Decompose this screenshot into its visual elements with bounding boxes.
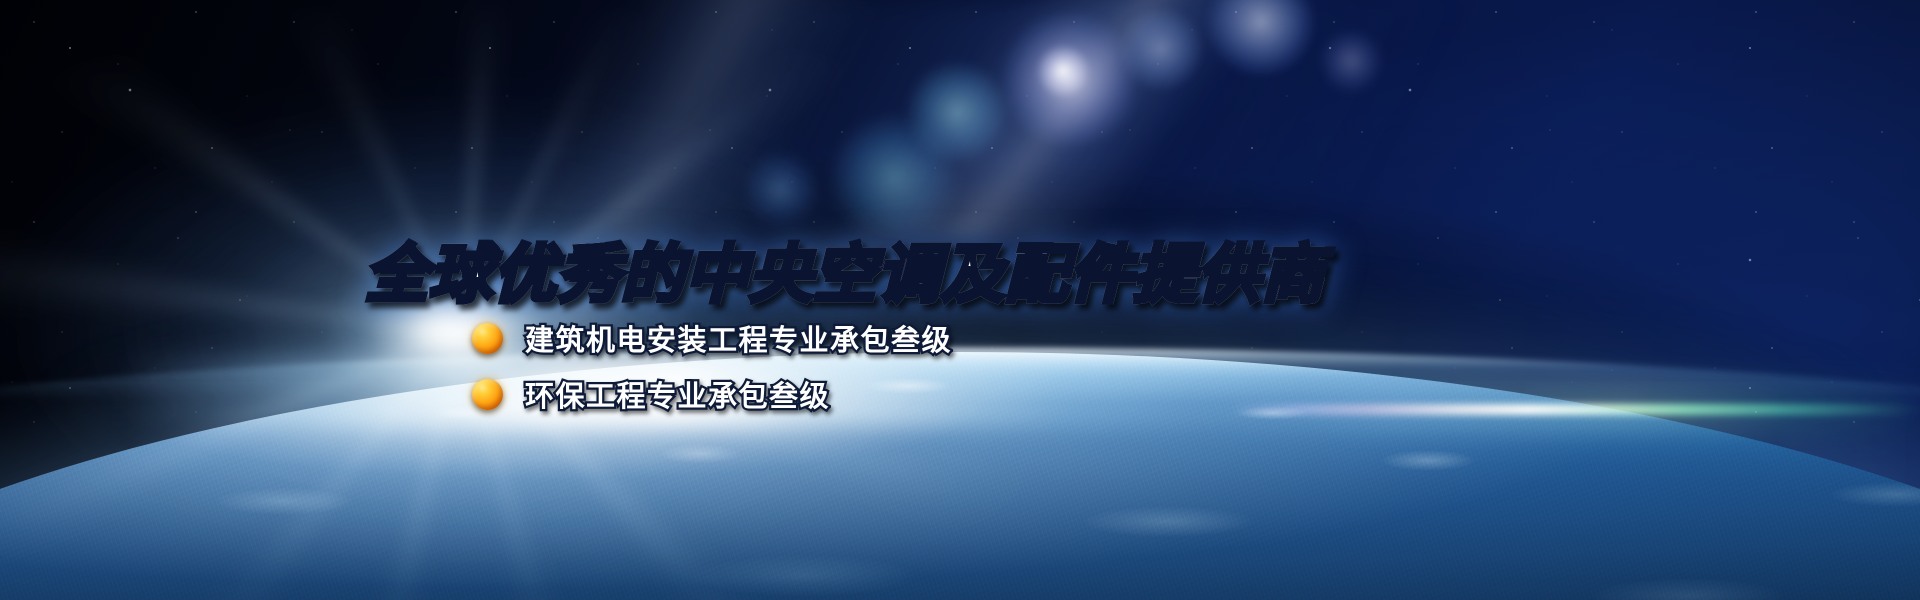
orange-sphere-bullet-icon (472, 323, 503, 354)
hero-banner: 全球优秀的中央空调及配件提供商 建筑机电安装工程专业承包叁级 环保工程专业承包叁… (0, 0, 1920, 600)
banner-content: 全球优秀的中央空调及配件提供商 建筑机电安装工程专业承包叁级 环保工程专业承包叁… (0, 0, 1920, 600)
list-item: 建筑机电安装工程专业承包叁级 (472, 310, 952, 366)
list-item-label: 环保工程专业承包叁级 (525, 373, 830, 415)
list-item-label: 建筑机电安装工程专业承包叁级 (525, 317, 952, 359)
qualification-list: 建筑机电安装工程专业承包叁级 环保工程专业承包叁级 (472, 310, 952, 422)
orange-sphere-bullet-icon (472, 379, 503, 410)
banner-headline: 全球优秀的中央空调及配件提供商 (365, 242, 1325, 309)
list-item: 环保工程专业承包叁级 (472, 366, 952, 422)
